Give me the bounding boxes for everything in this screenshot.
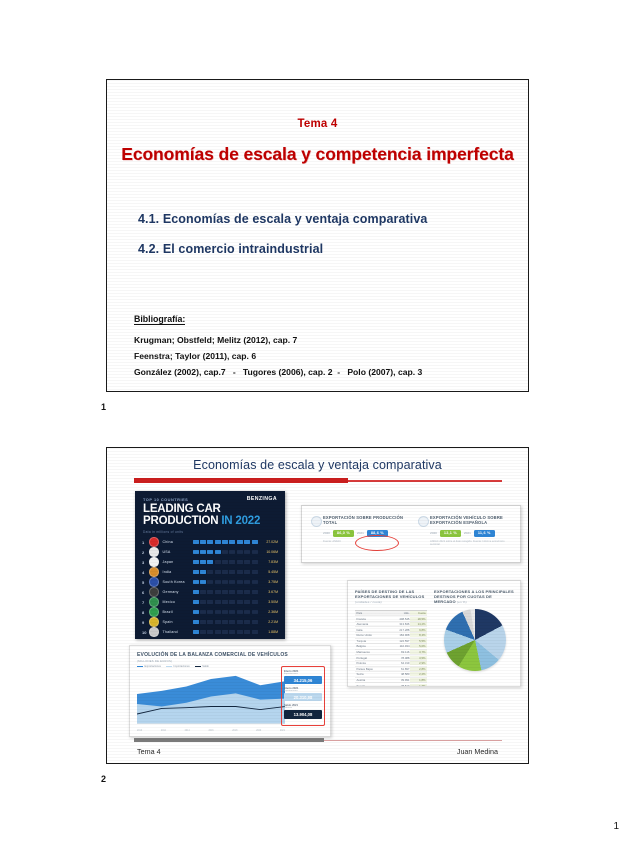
cars-header: TOP 10 COUNTRIES BENZINGA bbox=[143, 496, 277, 502]
table-cell: 217.288 bbox=[390, 628, 410, 632]
table-cell: 48.580 bbox=[390, 672, 410, 676]
axis-tick-label: 2020 bbox=[256, 730, 261, 732]
cars-value: 3.50M bbox=[261, 600, 278, 604]
destinations-pie-panel: EXPORTACIONES A LOS PRINCIPALES DESTINOS… bbox=[434, 589, 514, 606]
cars-bar-cell bbox=[237, 560, 243, 565]
axis-tick-label: 2021 bbox=[280, 730, 285, 732]
legend-label: Saldo bbox=[202, 665, 209, 668]
cars-value: 1.88M bbox=[261, 630, 278, 634]
cars-bar-cell bbox=[252, 540, 258, 545]
slide-1: Tema 4 Economías de escala y competencia… bbox=[106, 79, 529, 392]
stat-a-badge-2: 88,6 % bbox=[367, 530, 388, 537]
cars-bar-cell bbox=[237, 600, 243, 605]
stat-b-badge-1: 13,1 % bbox=[440, 530, 461, 537]
slide1-title: Economías de escala y competencia imperf… bbox=[107, 144, 528, 165]
cars-bar-cell bbox=[222, 560, 228, 565]
table-cell: 14,2% bbox=[410, 622, 428, 626]
cars-bar-cell bbox=[215, 580, 221, 585]
cars-heading-highlight: IN 2022 bbox=[221, 515, 260, 527]
stat-a-label-2: 2021 bbox=[357, 531, 364, 535]
table-cell: 64.319 bbox=[390, 661, 410, 665]
cars-bar bbox=[193, 580, 262, 585]
handout-page: Tema 4 Economías de escala y competencia… bbox=[0, 0, 636, 848]
cars-bar-cell bbox=[215, 570, 221, 575]
table-cell: 408.545 bbox=[390, 617, 410, 621]
cars-bar-cell bbox=[237, 550, 243, 555]
slide1-tema: Tema 4 bbox=[107, 118, 528, 130]
cars-value: 3.67M bbox=[261, 590, 278, 594]
stat-a-title: EXPORTACIÓN SOBRE PRODUCCIÓN TOTAL bbox=[323, 515, 407, 526]
axis-tick-label: 2012 bbox=[161, 730, 166, 732]
cars-bar bbox=[193, 570, 262, 575]
stat-b-badges: 2020 13,1 % 2021 11,6 % bbox=[430, 530, 514, 537]
balance-box-sublabel: Balanza bbox=[284, 707, 322, 709]
table-cell: 122.597 bbox=[390, 639, 410, 643]
cars-bar-cell bbox=[200, 550, 206, 555]
cars-bar-cell bbox=[200, 560, 206, 565]
cars-bar-cell bbox=[244, 610, 250, 615]
bibliography-item: González (2002), cap.7 - Tugores (2006),… bbox=[134, 367, 422, 377]
cars-rank: 10 bbox=[142, 630, 149, 635]
cars-country-name: Mexico bbox=[163, 600, 193, 604]
balance-box-sublabel: Importaciones bbox=[284, 690, 322, 692]
stat-b-note: ANFAC 2021 sobre el dato recogido. Fuent… bbox=[430, 540, 514, 546]
cars-row: 10Thailand1.88M bbox=[135, 627, 285, 637]
cars-heading-line1: LEADING CAR bbox=[143, 503, 221, 515]
pie-graphic bbox=[444, 609, 506, 671]
cars-rank: 1 bbox=[142, 540, 149, 545]
axis-tick-label: 2018 bbox=[232, 730, 237, 732]
document-page-number: 1 bbox=[613, 821, 619, 832]
export-destinations-infographic: PAÍSES DE DESTINO DE LAS EXPORTACIONES D… bbox=[347, 580, 521, 687]
cars-bar-cell bbox=[215, 540, 221, 545]
table-cell: 18,5% bbox=[410, 617, 428, 621]
destinations-table: PaísUds.CuotaFrancia408.54518,5%Alemania… bbox=[355, 610, 427, 687]
country-flag-icon bbox=[149, 537, 159, 547]
cars-bar-cell bbox=[222, 600, 228, 605]
cars-bar-cell bbox=[200, 580, 206, 585]
cars-bar-cell bbox=[193, 630, 199, 635]
cars-value: 3.75M bbox=[261, 580, 278, 584]
cars-bar-cell bbox=[244, 540, 250, 545]
cars-bar-cell bbox=[215, 630, 221, 635]
cars-country-name: Spain bbox=[163, 620, 193, 624]
axis-tick-label: 2016 bbox=[208, 730, 213, 732]
cars-bar bbox=[193, 540, 262, 545]
slide2-title-rule-accent bbox=[134, 478, 348, 483]
bibliography-item: Krugman; Obstfeld; Melitz (2012), cap. 7 bbox=[134, 335, 297, 345]
table-cell: Suiza bbox=[355, 672, 390, 676]
table-cell: Suecia bbox=[355, 684, 390, 687]
slide2-footer-right: Juan Medina bbox=[457, 747, 498, 756]
cars-value: 27.02M bbox=[261, 540, 278, 544]
table-cell: 5,0% bbox=[410, 644, 428, 648]
cars-bar-cell bbox=[244, 630, 250, 635]
destinations-col-header: País bbox=[355, 611, 390, 615]
table-cell: Bélgica bbox=[355, 644, 390, 648]
cars-bar-cell bbox=[207, 540, 213, 545]
country-flag-icon bbox=[149, 567, 159, 577]
country-flag-icon bbox=[149, 577, 159, 587]
cars-heading: LEADING CAR PRODUCTION IN 2022 bbox=[143, 503, 260, 527]
country-flag-icon bbox=[149, 607, 159, 617]
cars-bar-cell bbox=[207, 580, 213, 585]
destinations-col-header: Cuota bbox=[410, 611, 428, 615]
cars-bar-cell bbox=[193, 580, 199, 585]
cars-bar-cell bbox=[222, 540, 228, 545]
cars-country-name: India bbox=[163, 570, 193, 574]
cars-bar-cell bbox=[229, 600, 235, 605]
table-cell: 61.897 bbox=[390, 667, 410, 671]
cars-bar bbox=[193, 600, 262, 605]
balance-value-box: Saldo 2021Balanza13.904,08 bbox=[284, 704, 322, 718]
table-cell: 313.846 bbox=[390, 622, 410, 626]
cars-row: 3Japan7.83M bbox=[135, 557, 285, 567]
cars-bar-cell bbox=[222, 620, 228, 625]
export-stats-infographic: EXPORTACIÓN SOBRE PRODUCCIÓN TOTAL 2020 … bbox=[301, 505, 521, 563]
slide1-page-number: 1 bbox=[101, 402, 106, 412]
table-cell: 3,7% bbox=[410, 650, 428, 654]
cars-bar bbox=[193, 630, 262, 635]
cars-heading-line2: PRODUCTION bbox=[143, 515, 218, 527]
cars-country-name: Japan bbox=[163, 560, 193, 564]
cars-bar-cell bbox=[244, 550, 250, 555]
stat-a-label-1: 2020 bbox=[323, 531, 330, 535]
cars-kicker: TOP 10 COUNTRIES bbox=[143, 497, 188, 502]
cars-bar-cell bbox=[207, 600, 213, 605]
table-cell: Alemania bbox=[355, 622, 390, 626]
stat-a-badge-1: 86,0 % bbox=[333, 530, 354, 537]
table-cell: 78.088 bbox=[390, 656, 410, 660]
bibliography-heading-text: Bibliografía bbox=[134, 314, 182, 325]
table-cell: 82.116 bbox=[390, 650, 410, 654]
bibliography-item: Feenstra; Taylor (2011), cap. 6 bbox=[134, 351, 256, 361]
balance-box-value: 34.215,06 bbox=[284, 676, 322, 684]
table-cell: 5,5% bbox=[410, 639, 428, 643]
cars-bar-cell bbox=[207, 550, 213, 555]
legend-label: Exportaciones bbox=[145, 665, 161, 668]
cars-row: 2USA10.06M bbox=[135, 547, 285, 557]
table-cell: 184.908 bbox=[390, 633, 410, 637]
table-cell: Reino Unido bbox=[355, 633, 390, 637]
cars-bar-cell bbox=[222, 580, 228, 585]
leading-car-production-infographic: TOP 10 COUNTRIES BENZINGA LEADING CAR PR… bbox=[135, 491, 285, 639]
cars-value: 2.36M bbox=[261, 610, 278, 614]
cars-bar-cell bbox=[215, 600, 221, 605]
cars-value: 5.45M bbox=[261, 570, 278, 574]
slide2-page-number: 2 bbox=[101, 774, 106, 784]
balance-box-value: 13.904,08 bbox=[284, 710, 322, 718]
cars-bar-cell bbox=[237, 620, 243, 625]
cars-bar-cell bbox=[252, 560, 258, 565]
cars-country-name: South Korea bbox=[163, 580, 193, 584]
destinations-pie-title: EXPORTACIONES A LOS PRINCIPALES DESTINOS… bbox=[434, 589, 514, 606]
bibliography-colon: : bbox=[182, 314, 185, 325]
cars-bar-cell bbox=[252, 590, 258, 595]
table-cell: 39.991 bbox=[390, 678, 410, 682]
cars-bar-cell bbox=[222, 550, 228, 555]
cars-bar-cell bbox=[237, 590, 243, 595]
table-cell: 2,8% bbox=[410, 667, 428, 671]
trade-balance-infographic: EVOLUCIÓN DE LA BALANZA COMERCIAL DE VEH… bbox=[129, 645, 331, 737]
destinations-table-title-text: PAÍSES DE DESTINO DE LAS EXPORTACIONES D… bbox=[355, 589, 424, 599]
country-flag-icon bbox=[149, 547, 159, 557]
cars-bar-cell bbox=[193, 550, 199, 555]
table-cell: Países Bajos bbox=[355, 667, 390, 671]
axis-tick-label: 2010 bbox=[137, 730, 142, 732]
cars-bar-cell bbox=[215, 550, 221, 555]
table-cell: 3,5% bbox=[410, 656, 428, 660]
cars-bar-cell bbox=[237, 610, 243, 615]
cars-bar-cell bbox=[207, 610, 213, 615]
cars-row: 5South Korea3.75M bbox=[135, 577, 285, 587]
cars-bar-cell bbox=[237, 540, 243, 545]
cars-bar-cell bbox=[200, 630, 206, 635]
cars-bar-cell bbox=[215, 610, 221, 615]
cars-bar bbox=[193, 560, 262, 565]
legend-label: Importaciones bbox=[173, 665, 189, 668]
cars-bar-cell bbox=[193, 600, 199, 605]
country-flag-icon bbox=[149, 627, 159, 637]
country-flag-icon bbox=[149, 587, 159, 597]
cars-country-name: USA bbox=[163, 550, 193, 554]
cars-bar-cell bbox=[244, 570, 250, 575]
axis-tick-label: 2014 bbox=[185, 730, 190, 732]
cars-row: 8Brazil2.36M bbox=[135, 607, 285, 617]
country-flag-icon bbox=[149, 557, 159, 567]
balance-area-svg bbox=[137, 672, 285, 724]
table-cell: 1,7% bbox=[410, 684, 428, 687]
stat-b-title: EXPORTACIÓN VEHÍCULO SOBRE EXPORTACIÓN E… bbox=[430, 515, 514, 526]
cars-bar-cell bbox=[252, 610, 258, 615]
cars-bar-cell bbox=[229, 570, 235, 575]
cars-bar-cell bbox=[244, 620, 250, 625]
cars-row: 1China27.02M bbox=[135, 537, 285, 547]
cars-country-name: China bbox=[163, 540, 193, 544]
stat-a-badges: 2020 86,0 % 2021 88,6 % bbox=[323, 530, 407, 537]
cars-bar-cell bbox=[200, 540, 206, 545]
balance-value-boxes: Enero 2021Exportaciones34.215,06Enero 20… bbox=[281, 666, 325, 726]
destinations-table-units: (unidades / cuota) bbox=[355, 600, 382, 604]
cars-bar-cell bbox=[229, 610, 235, 615]
chart-icon bbox=[418, 516, 429, 527]
table-cell: Francia bbox=[355, 617, 390, 621]
destinations-table-title: PAÍSES DE DESTINO DE LAS EXPORTACIONES D… bbox=[355, 589, 427, 606]
table-cell: Italia bbox=[355, 628, 390, 632]
destinations-table-panel: PAÍSES DE DESTINO DE LAS EXPORTACIONES D… bbox=[355, 589, 427, 687]
table-cell: 1,8% bbox=[410, 678, 428, 682]
cars-bar-cell bbox=[193, 610, 199, 615]
cars-value: 2.21M bbox=[261, 620, 278, 624]
cars-value: 7.83M bbox=[261, 560, 278, 564]
cars-bar-cell bbox=[252, 630, 258, 635]
balance-legend-item: Saldo bbox=[195, 665, 209, 668]
table-cell: 9,8% bbox=[410, 628, 428, 632]
cars-bar-cell bbox=[252, 620, 258, 625]
cars-bar-cell bbox=[237, 570, 243, 575]
balance-legend-item: Exportaciones bbox=[137, 665, 161, 668]
balance-legend-item: Importaciones bbox=[166, 665, 190, 668]
cars-bar-cell bbox=[200, 610, 206, 615]
cars-bar-cell bbox=[200, 570, 206, 575]
cars-row: 9Spain2.21M bbox=[135, 617, 285, 627]
cars-bar-cell bbox=[252, 550, 258, 555]
country-flag-icon bbox=[149, 617, 159, 627]
destinations-pie-title-text: EXPORTACIONES A LOS PRINCIPALES DESTINOS… bbox=[434, 589, 514, 604]
cars-bar-cell bbox=[207, 560, 213, 565]
cars-bar-cell bbox=[244, 560, 250, 565]
cars-bar-cell bbox=[237, 630, 243, 635]
table-cell: 2,2% bbox=[410, 672, 428, 676]
cars-bar-cell bbox=[193, 590, 199, 595]
slide-2: Economías de escala y ventaja comparativ… bbox=[106, 447, 529, 764]
cars-row: 7Mexico3.50M bbox=[135, 597, 285, 607]
cars-bar-cell bbox=[244, 600, 250, 605]
cars-bar-cell bbox=[215, 560, 221, 565]
cars-bar-cell bbox=[229, 550, 235, 555]
cars-bar-cell bbox=[200, 590, 206, 595]
cars-bar bbox=[193, 610, 262, 615]
balance-value-box: Enero 2021Exportaciones34.215,06 bbox=[284, 670, 322, 684]
destinations-pie-chart bbox=[444, 609, 506, 671]
cars-bar-cell bbox=[252, 570, 258, 575]
legend-swatch-icon bbox=[166, 666, 172, 667]
cars-bar-cell bbox=[244, 580, 250, 585]
cars-rank: 8 bbox=[142, 610, 149, 615]
balance-legend: ExportacionesImportacionesSaldo bbox=[137, 665, 209, 668]
cars-bar-cell bbox=[229, 580, 235, 585]
cars-bar-cell bbox=[229, 590, 235, 595]
cars-rows: 1China27.02M2USA10.06M3Japan7.83M4India5… bbox=[135, 537, 285, 637]
balance-subtitle: (MILLONES DE EUROS) bbox=[137, 659, 172, 663]
table-cell: Turquía bbox=[355, 639, 390, 643]
cars-bar-cell bbox=[207, 590, 213, 595]
cars-rank: 6 bbox=[142, 590, 149, 595]
cars-bar bbox=[193, 620, 262, 625]
cars-bar-cell bbox=[200, 620, 206, 625]
stat-a-note: Fuente: ANFAC bbox=[323, 540, 407, 543]
cars-country-name: Brazil bbox=[163, 610, 193, 614]
cars-bar-cell bbox=[193, 560, 199, 565]
cars-bar-cell bbox=[222, 570, 228, 575]
cars-bar-cell bbox=[215, 620, 221, 625]
cars-bar-cell bbox=[193, 620, 199, 625]
slide1-section-1: 4.1. Economías de escala y ventaja compa… bbox=[138, 212, 427, 226]
bibliography-heading: Bibliografía: bbox=[134, 314, 185, 324]
cars-bar bbox=[193, 590, 262, 595]
table-cell: 110.934 bbox=[390, 644, 410, 648]
stat-block-vehicle-export-share: EXPORTACIÓN VEHÍCULO SOBRE EXPORTACIÓN E… bbox=[418, 515, 514, 546]
balance-value-box: Enero 2021Importaciones20.310,98 bbox=[284, 687, 322, 701]
cars-bar-cell bbox=[200, 600, 206, 605]
balance-box-sublabel: Exportaciones bbox=[284, 673, 322, 675]
slide2-footer-left: Tema 4 bbox=[137, 747, 161, 756]
legend-swatch-icon bbox=[137, 666, 143, 667]
balance-box-value: 20.310,98 bbox=[284, 693, 322, 701]
table-cell: Marruecos bbox=[355, 650, 390, 654]
cars-bar-cell bbox=[252, 600, 258, 605]
cars-bar-cell bbox=[229, 540, 235, 545]
slide2-title: Economías de escala y ventaja comparativ… bbox=[107, 458, 528, 472]
table-cell: Austria bbox=[355, 678, 390, 682]
table-cell: Portugal bbox=[355, 656, 390, 660]
cars-bar-cell bbox=[207, 620, 213, 625]
slide2-footer-rule-accent bbox=[134, 738, 324, 742]
cars-rank: 9 bbox=[142, 620, 149, 625]
cars-bar-cell bbox=[193, 540, 199, 545]
balance-plot bbox=[137, 672, 285, 724]
cars-rank: 4 bbox=[142, 570, 149, 575]
cars-rank: 2 bbox=[142, 550, 149, 555]
cars-rank: 3 bbox=[142, 560, 149, 565]
balance-title: EVOLUCIÓN DE LA BALANZA COMERCIAL DE VEH… bbox=[137, 652, 288, 658]
cars-country-name: Thailand bbox=[163, 630, 193, 634]
stat-block-export-over-production: EXPORTACIÓN SOBRE PRODUCCIÓN TOTAL 2020 … bbox=[311, 515, 407, 543]
cars-rank: 5 bbox=[142, 580, 149, 585]
table-cell: 8,4% bbox=[410, 633, 428, 637]
table-cell: Polonia bbox=[355, 661, 390, 665]
red-highlight-oval bbox=[355, 535, 399, 551]
cars-bar-cell bbox=[222, 630, 228, 635]
cars-bar-cell bbox=[222, 590, 228, 595]
cars-bar-cell bbox=[222, 610, 228, 615]
stat-b-label-2: 2021 bbox=[464, 531, 471, 535]
table-cell: 38.517 bbox=[390, 684, 410, 687]
cars-row: 4India5.45M bbox=[135, 567, 285, 577]
cars-bar-cell bbox=[193, 570, 199, 575]
slide1-section-2: 4.2. El comercio intraindustrial bbox=[138, 242, 323, 256]
destinations-col-header: Uds. bbox=[390, 611, 410, 615]
cars-bar-cell bbox=[244, 590, 250, 595]
leaf-icon bbox=[311, 516, 322, 527]
cars-bar bbox=[193, 550, 262, 555]
country-flag-icon bbox=[149, 597, 159, 607]
cars-row: 6Germany3.67M bbox=[135, 587, 285, 597]
stat-b-label-1: 2020 bbox=[430, 531, 437, 535]
cars-bar-cell bbox=[207, 570, 213, 575]
table-cell: 2,9% bbox=[410, 661, 428, 665]
cars-bar-cell bbox=[229, 620, 235, 625]
cars-bar-cell bbox=[229, 630, 235, 635]
cars-value: 10.06M bbox=[261, 550, 278, 554]
cars-country-name: Germany bbox=[163, 590, 193, 594]
balance-axis-ticks: 2010201220142016201820202021 bbox=[137, 730, 285, 732]
cars-bar-cell bbox=[252, 580, 258, 585]
cars-bar-cell bbox=[207, 630, 213, 635]
stat-b-badge-2: 11,6 % bbox=[474, 530, 495, 537]
cars-bar-cell bbox=[237, 580, 243, 585]
cars-brand: BENZINGA bbox=[247, 496, 277, 502]
cars-bar-cell bbox=[229, 560, 235, 565]
cars-rank: 7 bbox=[142, 600, 149, 605]
legend-swatch-icon bbox=[195, 666, 201, 667]
cars-bar-cell bbox=[215, 590, 221, 595]
table-row: Suecia38.5171,7% bbox=[355, 683, 427, 687]
cars-subcaption: Data in millions of units bbox=[143, 530, 183, 534]
destinations-pie-units: (en %) bbox=[457, 600, 467, 604]
